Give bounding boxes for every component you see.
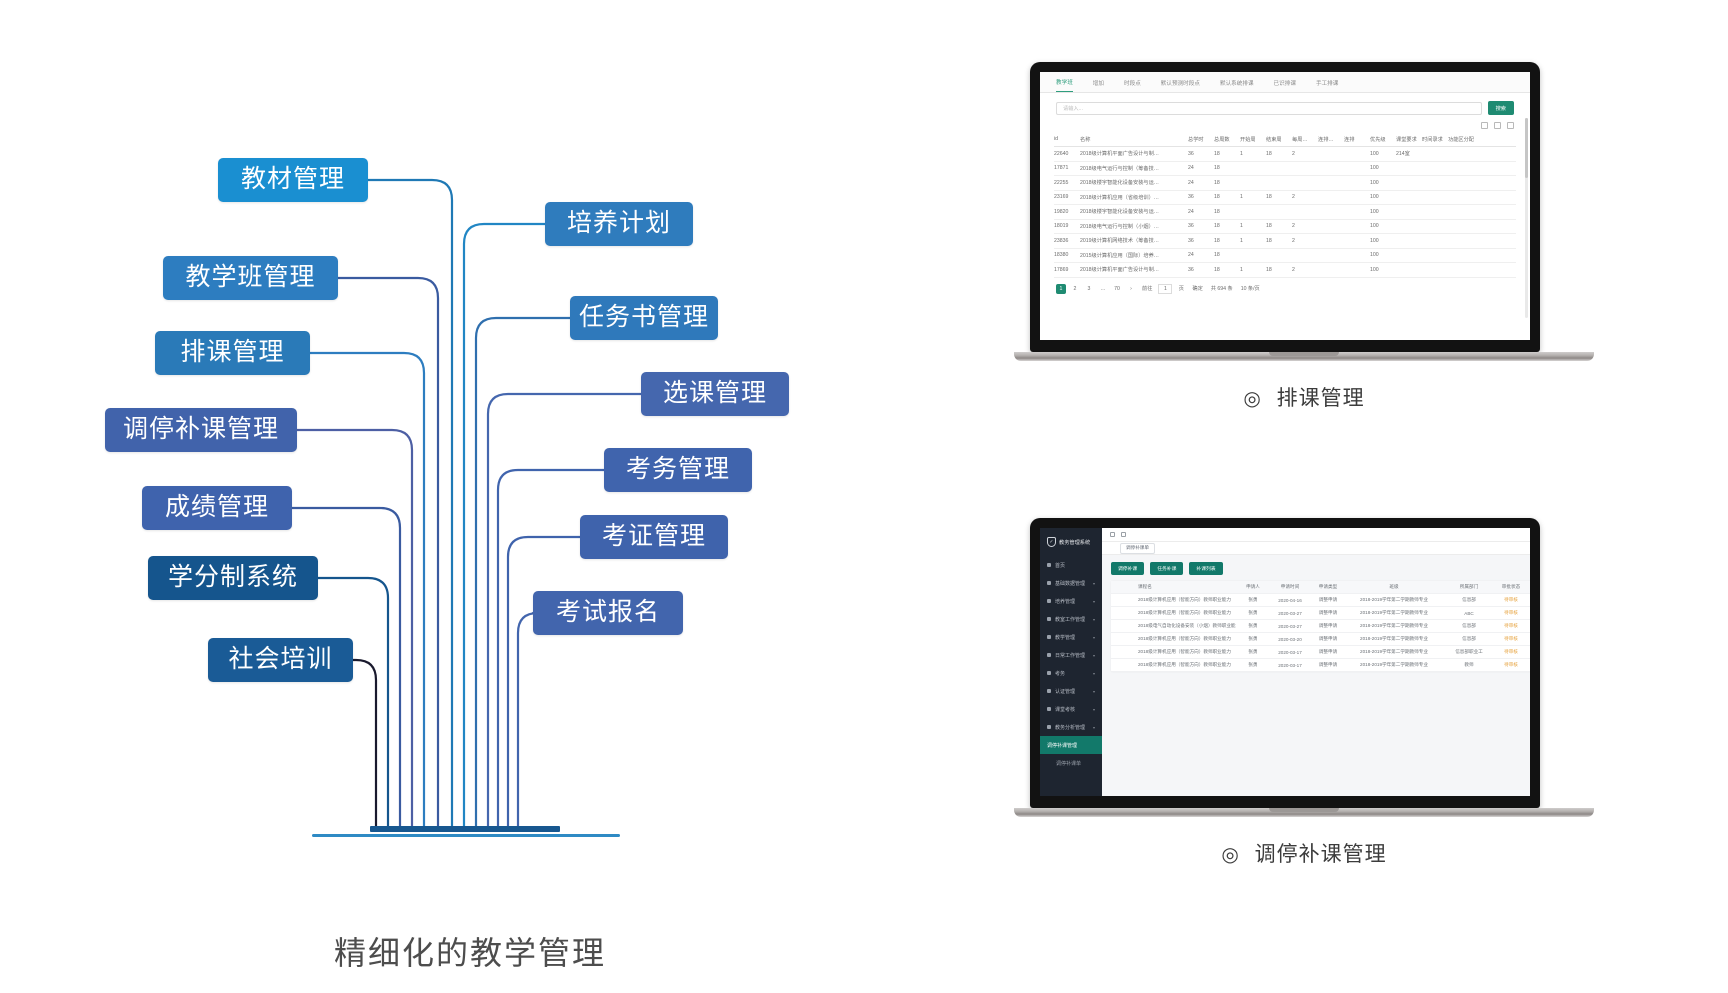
check-icon [1047, 707, 1051, 711]
sidebar-item-kaowu[interactable]: 考务 ▾ [1040, 664, 1102, 682]
cell-a: 36 [1188, 238, 1214, 244]
cell-h: 100 [1370, 180, 1396, 186]
database-icon [1047, 581, 1051, 585]
renwu-buke-button[interactable]: 任务补课 [1150, 562, 1183, 575]
col-name: 名称 [1080, 136, 1188, 143]
cell-c: 1 [1240, 194, 1266, 200]
cell-e: 2 [1292, 151, 1318, 157]
cell-type: 调整申请 [1310, 636, 1346, 642]
col-apply-time: 申请时间 [1270, 584, 1310, 590]
cell-class: 2018-2019学年第二学期教师专业 [1346, 597, 1442, 603]
col-apply-type: 申请类型 [1310, 584, 1346, 590]
node-label: 教学班管理 [185, 265, 315, 290]
cell-name: 2018级计算机应用（省级培训）… [1080, 194, 1188, 201]
sidebar-item-label: 日常工作管理 [1055, 652, 1085, 659]
chevron-down-icon: ▾ [1093, 707, 1095, 712]
chevron-down-icon: ▾ [1093, 581, 1095, 586]
tree-base-line [312, 834, 620, 837]
cell-a: 36 [1188, 151, 1214, 157]
tree-base-bar [370, 826, 560, 832]
node-label: 调停补课管理 [123, 417, 279, 442]
action-buttons: 调停补课 任务补课 补课列表 [1102, 555, 1530, 581]
sidebar-item-tiaoting-buke[interactable]: 调停补课管理 [1040, 736, 1102, 754]
node-paike-guanli[interactable]: 排课管理 [155, 331, 310, 375]
cell-b: 18 [1214, 252, 1240, 258]
node-label: 考证管理 [602, 524, 706, 549]
cell-b: 18 [1214, 151, 1240, 157]
cell-class: 2018-2019学年第二学期教师专业 [1346, 649, 1442, 655]
main-content: 调停补课单 调停补课 任务补课 补课列表 课程名 申请人 申请时间 [1102, 528, 1530, 796]
cell-date: 2020-03-20 [1270, 637, 1310, 642]
laptop-caption-paike: ◎ 排课管理 [1014, 382, 1594, 412]
col-hours: 总学时 [1188, 136, 1214, 143]
cell-d: 18 [1266, 194, 1292, 200]
cell-name: 2018级楼宇智能化设备安装与运… [1080, 208, 1188, 215]
cell-applicant: 张勇 [1236, 662, 1270, 668]
tab-moren-xitong-paike[interactable]: 默认系统排课 [1220, 79, 1254, 92]
cell-date: 2020-04-16 [1270, 598, 1310, 603]
node-label: 任务书管理 [579, 305, 709, 330]
fullscreen-icon[interactable] [1507, 122, 1514, 129]
col-class: 班级 [1346, 584, 1442, 590]
node-jiaoxueban-guanli[interactable]: 教学班管理 [163, 256, 338, 300]
cell-course: 2018级计算机应用（智能方向）教师职业能力 [1116, 597, 1236, 603]
cell-e: 2 [1292, 267, 1318, 273]
admin-app: ✓ 教务管理系统 首页 基础数据管理 ▾ [1040, 528, 1530, 796]
cell-type: 调整申请 [1310, 623, 1346, 629]
sidebar-item-richang[interactable]: 日常工作管理 ▾ [1040, 646, 1102, 664]
pagination: 1 2 3 … 70 › 前往 1 页 确定 共 694 条 10 条/页 [1040, 278, 1530, 300]
table-row[interactable]: 17871 2018级电气运行与控制（筹备技… 24 18 100 [1054, 162, 1516, 177]
cell-id: 23169 [1054, 194, 1080, 200]
cell-a: 36 [1188, 223, 1214, 229]
cell-e: 2 [1292, 194, 1318, 200]
cell-class: 2018-2019学年第二学期教师专业 [1346, 610, 1442, 616]
sidebar-item-label: 考务 [1055, 670, 1065, 677]
laptop-lid: 教学班 增加 时段点 默认预测时段点 默认系统排课 已识排课 手工排课 请输入.… [1030, 62, 1540, 352]
sidebar-item-label: 教室工作管理 [1055, 616, 1085, 623]
sidebar-item-renzheng[interactable]: 认证管理 ▾ [1040, 682, 1102, 700]
sidebar-item-label: 基础数据管理 [1055, 580, 1085, 587]
cell-course: 2018级计算机应用（智能方向）教师职业能力 [1116, 649, 1236, 655]
sidebar-item-peiyang[interactable]: 培养管理 ▾ [1040, 592, 1102, 610]
cell-name: 2019级计算机网络技术（筹备技… [1080, 237, 1188, 244]
cell-action[interactable]: 查看详情 [1526, 647, 1530, 657]
app-logo: ✓ 教务管理系统 [1040, 528, 1102, 556]
status-badge: 待审核 [1496, 597, 1526, 603]
node-label: 考务管理 [626, 457, 730, 482]
goto-input[interactable]: 1 [1158, 284, 1172, 294]
caption-text: 调停补课管理 [1255, 843, 1387, 866]
cell-class: 2018-2019学年第二学期教师专业 [1346, 636, 1442, 642]
total-count: 共 694 条 [1209, 284, 1235, 294]
tree-branch-lines [0, 0, 940, 993]
teach-icon [1047, 635, 1051, 639]
sidebar-item-label: 首页 [1055, 562, 1065, 569]
cell-e: 2 [1292, 223, 1318, 229]
page-unit: 页 [1176, 284, 1186, 294]
cell-id: 23836 [1054, 238, 1080, 244]
caption-text: 排课管理 [1277, 387, 1365, 410]
goto-label: 前往 [1140, 284, 1154, 294]
cell-dept: 信息部职业工 [1442, 649, 1496, 655]
laptop-base [1014, 808, 1594, 817]
app-tab-bar: 教学班 增加 时段点 默认预测时段点 默认系统排课 已识排课 手工排课 [1040, 72, 1530, 93]
status-badge: 待审核 [1496, 649, 1526, 655]
cell-dept: ABC [1442, 611, 1496, 616]
cell-b: 18 [1214, 223, 1240, 229]
table-row[interactable]: 19820 2018级楼宇智能化设备安装与运… 24 18 100 [1054, 205, 1516, 220]
col-weeks: 总周数 [1214, 136, 1240, 143]
cell-c: 1 [1240, 238, 1266, 244]
tab-yishi-paike[interactable]: 已识排课 [1274, 79, 1296, 92]
status-badge: 待审核 [1496, 610, 1526, 616]
table-header-row: id 名称 总学时 总周数 开始周 结束周 每周… 连排… 连排 优先级 课堂要… [1054, 132, 1516, 147]
col-lianpai1: 连排… [1318, 136, 1344, 143]
search-input[interactable]: 请输入... [1056, 102, 1482, 115]
node-chengji-guanli[interactable]: 成绩管理 [142, 486, 292, 530]
search-button[interactable]: 搜索 [1488, 101, 1514, 115]
cell-course: 2018级电气自动化设备安装（小烟）教师职业能力 [1116, 623, 1236, 629]
cell-applicant: 张勇 [1236, 636, 1270, 642]
cell-action[interactable]: 查看详情 [1526, 595, 1530, 605]
cell-id: 17871 [1054, 165, 1080, 171]
chevron-down-icon: ▾ [1093, 617, 1095, 622]
cell-course: 2018级计算机应用（智能方向）教师职业能力 [1116, 636, 1236, 642]
cell-id: 17869 [1054, 267, 1080, 273]
book-icon [1047, 599, 1051, 603]
col-course: 课程名 [1116, 584, 1236, 590]
cell-a: 24 [1188, 252, 1214, 258]
cell-name: 2018级计算机平面广告设计与制… [1080, 150, 1188, 157]
col-lianpai2: 连排 [1344, 136, 1370, 143]
tab-jiaoxueban[interactable]: 教学班 [1056, 78, 1073, 92]
settings-icon[interactable] [1494, 122, 1501, 129]
cell-dept: 信息部 [1442, 623, 1496, 629]
node-label: 培养计划 [567, 211, 671, 236]
node-label: 教材管理 [241, 167, 345, 192]
col-endweek: 结束周 [1266, 136, 1292, 143]
cell-name: 2018级计算机平面广告设计与制… [1080, 266, 1188, 273]
cell-id: 22640 [1054, 151, 1080, 157]
cell-dept: 教师 [1442, 662, 1496, 668]
node-xuanke-guanli[interactable]: 选课管理 [641, 372, 789, 416]
tab-shougong-paike[interactable]: 手工排课 [1316, 79, 1338, 92]
tab-shiduandian[interactable]: 时段点 [1124, 79, 1141, 92]
laptop-notch [1269, 808, 1339, 812]
page-title: 精细化的教学管理 [0, 928, 940, 974]
laptop-mockup-paike: 教学班 增加 时段点 默认预测时段点 默认系统排课 已识排课 手工排课 请输入.… [1014, 62, 1594, 362]
cell-a: 36 [1188, 194, 1214, 200]
cell-name: 2018级电气运行与控制（小烟）… [1080, 223, 1188, 230]
status-badge: 待审核 [1496, 623, 1526, 629]
col-applicant: 申请人 [1236, 584, 1270, 590]
cell-h: 100 [1370, 165, 1396, 171]
cell-dept: 信息部 [1442, 597, 1496, 603]
col-action: 操作 [1526, 584, 1530, 590]
node-label: 学分制系统 [168, 565, 298, 590]
cell-name: 2018级电气运行与控制（筹备技… [1080, 165, 1188, 172]
cell-type: 调整申请 [1310, 610, 1346, 616]
table-row[interactable]: 2018级计算机应用（智能方向）教师职业能力 张勇 2020-03-20 调整申… [1111, 633, 1530, 646]
cell-i: 214室 [1396, 150, 1422, 157]
cell-applicant: 张勇 [1236, 597, 1270, 603]
cell-date: 2020-03-27 [1270, 624, 1310, 629]
sidebar-item-tiaoting-buke-dan[interactable]: 调停补课单 [1040, 754, 1102, 772]
node-kaoshi-baoming[interactable]: 考试报名 [533, 591, 683, 635]
cell-course: 2018级计算机应用（智能方向）教师职业能力 [1116, 662, 1236, 668]
tab-moren-yuce-shiduandian[interactable]: 默认预测时段点 [1161, 79, 1200, 92]
cell-id: 18380 [1054, 252, 1080, 258]
shield-icon: ✓ [1047, 537, 1056, 547]
laptop-screen: 教学班 增加 时段点 默认预测时段点 默认系统排课 已识排课 手工排课 请输入.… [1040, 72, 1530, 340]
chevron-down-icon: ▾ [1093, 635, 1095, 640]
cell-date: 2020-03-17 [1270, 663, 1310, 668]
sidebar-item-home[interactable]: 首页 [1040, 556, 1102, 574]
col-zone: 功能区分配 [1448, 136, 1474, 143]
page-3[interactable]: 3 [1084, 284, 1094, 294]
sidebar-item-label: 教务分析管理 [1055, 724, 1085, 731]
cell-h: 100 [1370, 267, 1396, 273]
sidebar-item-jiaoxue[interactable]: 教学管理 ▾ [1040, 628, 1102, 646]
sidebar-item-label: 认证管理 [1055, 688, 1075, 695]
tab-zengjia[interactable]: 增加 [1093, 79, 1104, 92]
page-2[interactable]: 2 [1070, 284, 1080, 294]
cell-class: 2018-2019学年第二学期教师专业 [1346, 662, 1442, 668]
cell-date: 2020-03-27 [1270, 611, 1310, 616]
cell-h: 100 [1370, 238, 1396, 244]
node-tiaoting-buke-guanli[interactable]: 调停补课管理 [105, 408, 297, 452]
vertical-scrollbar[interactable] [1525, 118, 1528, 318]
sidebar-item-label: 调停补课单 [1056, 760, 1081, 767]
node-label: 成绩管理 [165, 495, 269, 520]
tree-diagram: 教材管理 教学班管理 排课管理 调停补课管理 成绩管理 学分制系统 社会培训 培… [0, 0, 940, 993]
cell-b: 18 [1214, 209, 1240, 215]
cell-b: 18 [1214, 267, 1240, 273]
table-row[interactable]: 23836 2019级计算机网络技术（筹备技… 36 18 1 18 2 100 [1054, 234, 1516, 249]
laptop-mockup-tiaoting: ✓ 教务管理系统 首页 基础数据管理 ▾ [1014, 518, 1594, 818]
cell-c: 1 [1240, 151, 1266, 157]
cell-type: 调整申请 [1310, 662, 1346, 668]
cell-d: 18 [1266, 238, 1292, 244]
cell-a: 24 [1188, 165, 1214, 171]
cell-id: 18019 [1054, 223, 1080, 229]
col-dept: 所属部门 [1442, 584, 1496, 590]
cell-action[interactable]: 查看详情 [1526, 660, 1530, 670]
cell-e: 2 [1292, 238, 1318, 244]
table-row[interactable]: 2018级计算机应用（智能方向）教师职业能力 张勇 2020-04-16 调整申… [1111, 594, 1530, 607]
node-jiaocai-guanli[interactable]: 教材管理 [218, 158, 368, 202]
cell-c: 1 [1240, 223, 1266, 229]
schedule-table: id 名称 总学时 总周数 开始周 结束周 每周… 连排… 连排 优先级 课堂要… [1040, 132, 1530, 278]
col-room-req: 课堂要求 [1396, 136, 1422, 143]
certificate-icon [1047, 689, 1051, 693]
per-page-select[interactable]: 10 条/页 [1239, 284, 1262, 294]
confirm-button[interactable]: 确定 [1190, 284, 1204, 294]
laptop-base [1014, 352, 1594, 361]
bullet-icon: ◎ [1243, 388, 1261, 410]
table-row[interactable]: 22640 2018级计算机平面广告设计与制… 36 18 1 18 2 100… [1054, 147, 1516, 162]
node-label: 考试报名 [556, 600, 660, 625]
home-icon [1047, 563, 1051, 567]
table-row[interactable]: 17869 2018级计算机平面广告设计与制… 36 18 1 18 2 100 [1054, 263, 1516, 278]
bullet-icon: ◎ [1221, 844, 1239, 866]
cell-id: 22255 [1054, 180, 1080, 186]
refresh-icon[interactable] [1121, 532, 1126, 537]
board-icon [1047, 617, 1051, 621]
cell-date: 2020-03-17 [1270, 650, 1310, 655]
cell-class: 2018-2019学年第二学期教师专业 [1346, 623, 1442, 629]
sidebar-item-jiaoshi-gongzuo[interactable]: 教室工作管理 ▾ [1040, 610, 1102, 628]
cell-d: 18 [1266, 267, 1292, 273]
breadcrumb-chip[interactable]: 调停补课单 [1120, 543, 1155, 554]
col-priority: 优先级 [1370, 136, 1396, 143]
sidebar-item-ketang-kaohe[interactable]: 课堂考核 ▾ [1040, 700, 1102, 718]
page-1[interactable]: 1 [1056, 284, 1066, 294]
col-status: 审批状态 [1496, 584, 1526, 590]
page-ellipsis: … [1098, 284, 1108, 294]
columns-icon[interactable] [1481, 122, 1488, 129]
laptop-caption-tiaoting: ◎ 调停补课管理 [1014, 838, 1594, 868]
cell-h: 100 [1370, 223, 1396, 229]
app-logo-text: 教务管理系统 [1059, 539, 1090, 546]
status-badge: 待审核 [1496, 636, 1526, 642]
col-startweek: 开始周 [1240, 136, 1266, 143]
collapse-icon[interactable] [1110, 532, 1115, 537]
buke-liebiao-button[interactable]: 补课列表 [1189, 562, 1222, 575]
sidebar-item-jiaowu-fenxi[interactable]: 教务分析管理 ▾ [1040, 718, 1102, 736]
breadcrumb: 调停补课单 [1102, 542, 1530, 555]
table-row[interactable]: 2018级计算机应用（智能方向）教师职业能力 张勇 2020-03-17 调整申… [1111, 646, 1530, 659]
table-toolbar [1040, 122, 1530, 132]
laptop-lid: ✓ 教务管理系统 首页 基础数据管理 ▾ [1030, 518, 1540, 808]
table-row[interactable]: 18019 2018级电气运行与控制（小烟）… 36 18 1 18 2 100 [1054, 220, 1516, 235]
sidebar-item-label: 培养管理 [1055, 598, 1075, 605]
cell-applicant: 张勇 [1236, 623, 1270, 629]
sidebar-item-label: 教学管理 [1055, 634, 1075, 641]
chevron-down-icon: ▾ [1093, 689, 1095, 694]
status-badge: 待审核 [1496, 662, 1526, 668]
next-page-icon[interactable]: › [1126, 284, 1136, 294]
node-kaozheng-guanli[interactable]: 考证管理 [580, 515, 728, 559]
chevron-down-icon: ▾ [1093, 653, 1095, 658]
node-label: 排课管理 [180, 340, 284, 365]
cell-h: 100 [1370, 194, 1396, 200]
cell-action[interactable]: 查看详情 [1526, 608, 1530, 618]
cell-d: 18 [1266, 151, 1292, 157]
laptop-screen: ✓ 教务管理系统 首页 基础数据管理 ▾ [1040, 528, 1530, 796]
table-row[interactable]: 2018级计算机应用（智能方向）教师职业能力 张勇 2020-03-17 调整申… [1111, 659, 1530, 672]
cell-h: 100 [1370, 209, 1396, 215]
table-row[interactable]: 18380 2015级计算机应用（国际）培养… 24 18 100 [1054, 249, 1516, 264]
cell-c: 1 [1240, 267, 1266, 273]
cell-name: 2018级楼宇智能化设备安装与运… [1080, 179, 1188, 186]
table-row[interactable]: 22255 2018级楼宇智能化设备安装与运… 24 18 100 [1054, 176, 1516, 191]
cell-b: 18 [1214, 238, 1240, 244]
col-perweek: 每周… [1292, 136, 1318, 143]
cell-type: 调整申请 [1310, 649, 1346, 655]
cell-a: 36 [1188, 267, 1214, 273]
tiaoting-buke-button[interactable]: 调停补课 [1111, 562, 1144, 575]
cell-action[interactable]: 查看详情 [1526, 634, 1530, 644]
table-row[interactable]: 23169 2018级计算机应用（省级培训）… 36 18 1 18 2 100 [1054, 191, 1516, 206]
chart-icon [1047, 725, 1051, 729]
laptop-notch [1269, 352, 1339, 356]
table-header-row: 课程名 申请人 申请时间 申请类型 班级 所属部门 审批状态 操作 [1111, 581, 1530, 594]
page-70[interactable]: 70 [1112, 284, 1122, 294]
cell-type: 调整申请 [1310, 597, 1346, 603]
top-bar [1102, 528, 1530, 542]
chevron-down-icon: ▾ [1093, 671, 1095, 676]
cell-name: 2015级计算机应用（国际）培养… [1080, 252, 1188, 259]
cell-b: 18 [1214, 194, 1240, 200]
cell-a: 24 [1188, 209, 1214, 215]
cell-b: 18 [1214, 165, 1240, 171]
chevron-down-icon: ▾ [1093, 725, 1095, 730]
sidebar-item-label: 课堂考核 [1055, 706, 1075, 713]
node-label: 选课管理 [663, 381, 767, 406]
cell-applicant: 张勇 [1236, 610, 1270, 616]
cell-applicant: 张勇 [1236, 649, 1270, 655]
cell-h: 100 [1370, 151, 1396, 157]
node-peiyang-jihua[interactable]: 培养计划 [545, 202, 693, 246]
col-id: id [1054, 136, 1080, 142]
node-kaowu-guanli[interactable]: 考务管理 [604, 448, 752, 492]
cell-course: 2018级计算机应用（智能方向）教师职业能力 [1116, 610, 1236, 616]
cell-dept: 信息部 [1442, 636, 1496, 642]
table-row[interactable]: 2018级计算机应用（智能方向）教师职业能力 张勇 2020-03-27 调整申… [1111, 607, 1530, 620]
cell-h: 100 [1370, 252, 1396, 258]
table-row[interactable]: 2018级电气自动化设备安装（小烟）教师职业能力 张勇 2020-03-27 调… [1111, 620, 1530, 633]
node-renwushu-guanli[interactable]: 任务书管理 [570, 296, 718, 340]
cell-a: 24 [1188, 180, 1214, 186]
search-row: 请输入... 搜索 [1040, 93, 1530, 122]
cell-b: 18 [1214, 180, 1240, 186]
cell-d: 18 [1266, 223, 1292, 229]
sidebar: ✓ 教务管理系统 首页 基础数据管理 ▾ [1040, 528, 1102, 796]
sidebar-item-label: 调停补课管理 [1047, 742, 1077, 749]
chevron-down-icon: ▾ [1093, 599, 1095, 604]
node-xuefenzhi-xitong[interactable]: 学分制系统 [148, 556, 318, 600]
sidebar-item-jichu-shuju[interactable]: 基础数据管理 ▾ [1040, 574, 1102, 592]
cell-id: 19820 [1054, 209, 1080, 215]
node-label: 社会培训 [228, 647, 332, 672]
node-shehui-peixun[interactable]: 社会培训 [208, 638, 353, 682]
col-time-req: 时间录求 [1422, 136, 1448, 143]
exam-icon [1047, 671, 1051, 675]
records-table: 课程名 申请人 申请时间 申请类型 班级 所属部门 审批状态 操作 2018级计… [1111, 581, 1530, 672]
calendar-icon [1047, 653, 1051, 657]
cell-action[interactable]: 查看详情 [1526, 621, 1530, 631]
